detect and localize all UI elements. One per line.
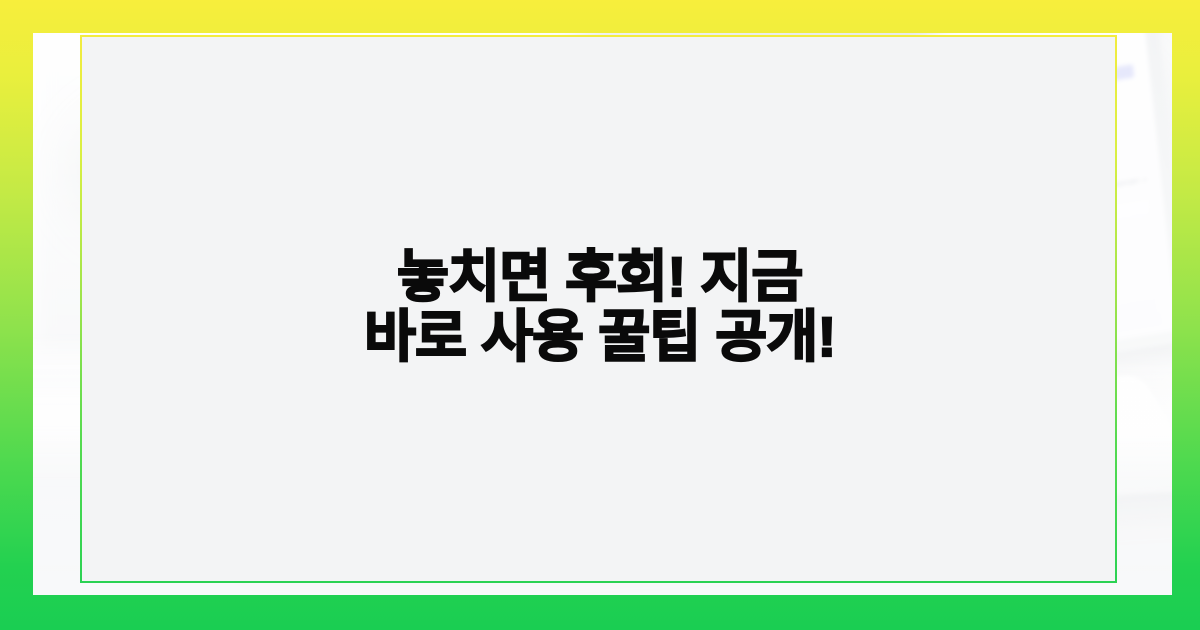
headline-line-1: 놓치면 후회! 지금 bbox=[0, 247, 1200, 307]
headline-line-2: 바로 사용 꿀팁 공개! bbox=[0, 307, 1200, 367]
poster-canvas: Sessions 483 Active users 1,120 bbox=[0, 0, 1200, 630]
headline: 놓치면 후회! 지금 바로 사용 꿀팁 공개! bbox=[0, 247, 1200, 368]
